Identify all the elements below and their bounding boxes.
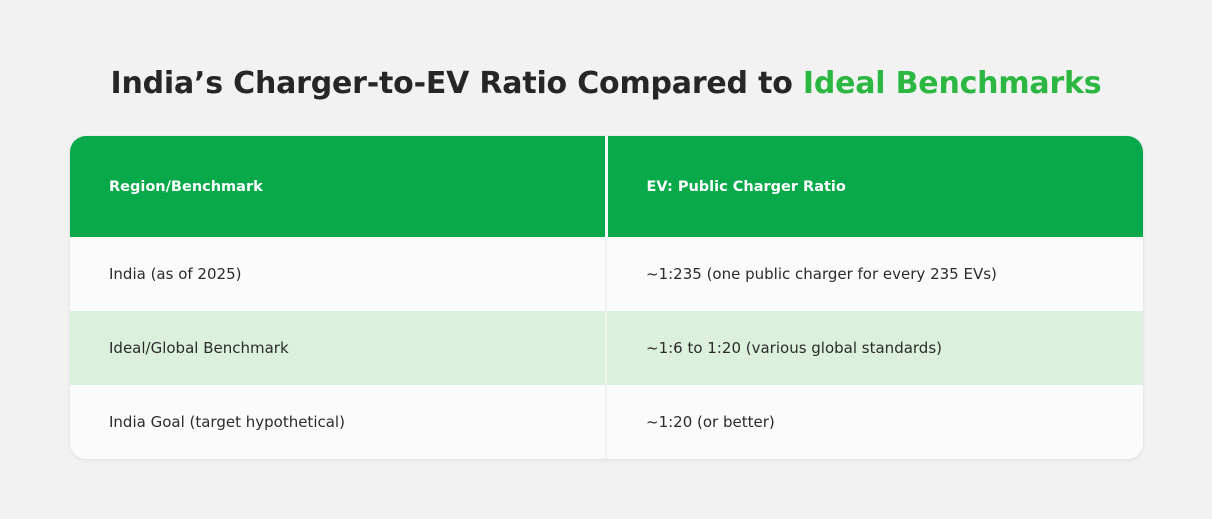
infographic-page: India’s Charger-to-EV Ratio Compared to … <box>0 0 1212 519</box>
cell-region: Ideal/Global Benchmark <box>70 311 606 385</box>
cell-region: India Goal (target hypothetical) <box>70 385 606 459</box>
table-body: India (as of 2025) ~1:235 (one public ch… <box>70 237 1143 459</box>
page-title: India’s Charger-to-EV Ratio Compared to … <box>0 66 1212 101</box>
table-header-row: Region/Benchmark EV: Public Charger Rati… <box>70 136 1143 237</box>
table-header: Region/Benchmark EV: Public Charger Rati… <box>70 136 1143 237</box>
comparison-table-card: Region/Benchmark EV: Public Charger Rati… <box>70 136 1143 459</box>
column-header-ratio: EV: Public Charger Ratio <box>606 136 1143 237</box>
charger-ratio-table: Region/Benchmark EV: Public Charger Rati… <box>70 136 1143 459</box>
table-row: Ideal/Global Benchmark ~1:6 to 1:20 (var… <box>70 311 1143 385</box>
page-title-lead: India’s Charger-to-EV Ratio Compared to <box>111 66 803 101</box>
cell-region: India (as of 2025) <box>70 237 606 311</box>
table-row: India (as of 2025) ~1:235 (one public ch… <box>70 237 1143 311</box>
table-row: India Goal (target hypothetical) ~1:20 (… <box>70 385 1143 459</box>
column-header-region: Region/Benchmark <box>70 136 606 237</box>
cell-ratio: ~1:6 to 1:20 (various global standards) <box>606 311 1143 385</box>
cell-ratio: ~1:235 (one public charger for every 235… <box>606 237 1143 311</box>
cell-ratio: ~1:20 (or better) <box>606 385 1143 459</box>
page-title-accent: Ideal Benchmarks <box>803 66 1102 101</box>
